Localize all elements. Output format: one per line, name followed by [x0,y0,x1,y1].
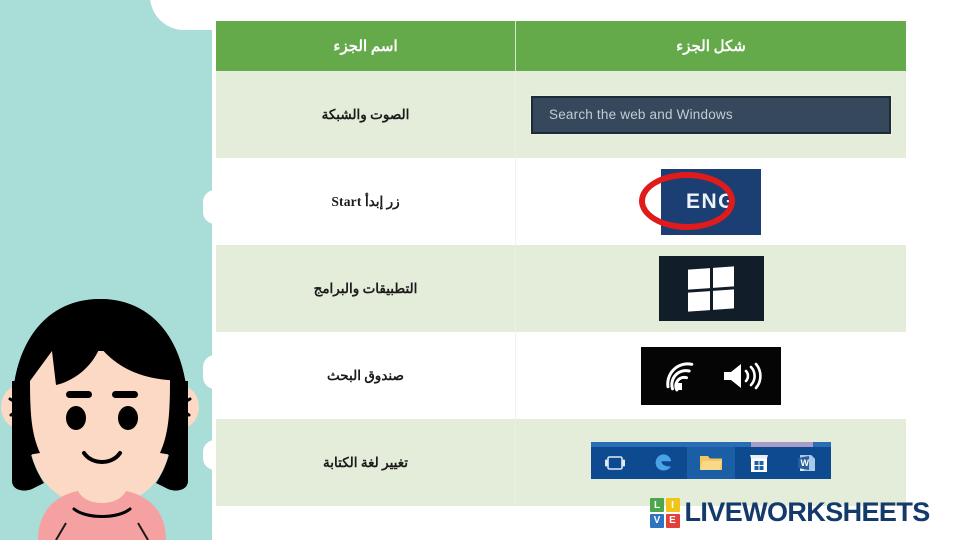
worksheet-page: اسم الجزء شكل الجزء الصوت والشبكة Search… [0,0,960,540]
red-ellipse-annotation [639,172,735,230]
row-shape-tray-icons [516,332,906,419]
liveworksheets-logo-tiles: L I V E [650,498,680,528]
row-shape-eng-indicator: ENG [516,158,906,245]
word-document-button[interactable]: W [783,447,831,479]
liveworksheets-watermark: L I V E LIVEWORKSHEETS [650,498,930,528]
task-view-button[interactable] [591,447,639,479]
file-explorer-button[interactable] [687,447,735,479]
row-label-search-box: صندوق البحث [216,332,516,419]
table-row: التطبيقات والبرامج [216,245,906,332]
girl-avatar [0,285,205,540]
logo-tile-i: I [666,498,680,512]
file-explorer-icon [699,453,723,472]
logo-tile-v: V [650,514,664,528]
word-document-icon: W [796,452,818,474]
edge-browser-button[interactable] [639,447,687,479]
parts-table: اسم الجزء شكل الجزء الصوت والشبكة Search… [216,21,906,508]
windows-logo-icon [688,266,734,311]
volume-icon[interactable] [720,360,762,392]
windows-search-box[interactable]: Search the web and Windows [531,96,891,134]
microsoft-store-button[interactable] [735,447,783,479]
row-shape-windows-logo [516,245,906,332]
task-view-icon [604,455,626,471]
taskbar-strip[interactable]: W [591,447,831,479]
header-part-shape: شكل الجزء [516,21,906,71]
wifi-icon[interactable] [660,360,700,392]
system-tray[interactable] [641,347,781,405]
edge-browser-icon [652,452,674,474]
taskbar-top-line [591,442,831,447]
row-shape-search-box: Search the web and Windows [516,71,906,158]
language-indicator-eng[interactable]: ENG [661,169,761,235]
header-part-name: اسم الجزء [216,21,516,71]
table-row: تغيير لغة الكتابة [216,419,906,506]
row-label-start-button: زر إبدأ Start [216,158,516,245]
start-button-tile[interactable] [659,256,764,321]
row-label-apps-programs: التطبيقات والبرامج [216,245,516,332]
logo-tile-l: L [650,498,664,512]
table-header-row: اسم الجزء شكل الجزء [216,21,906,71]
svg-text:W: W [801,458,810,468]
row-label-change-language: تغيير لغة الكتابة [216,419,516,506]
table-row: زر إبدأ Start ENG [216,158,906,245]
search-placeholder-text: Search the web and Windows [533,107,733,122]
table-row: صندوق البحث [216,332,906,419]
table-row: الصوت والشبكة Search the web and Windows [216,71,906,158]
microsoft-store-icon [749,452,769,474]
row-label-sound-network: الصوت والشبكة [216,71,516,158]
logo-tile-e: E [666,514,680,528]
liveworksheets-wordmark: LIVEWORKSHEETS [685,499,930,526]
row-shape-taskbar: W [516,419,906,506]
